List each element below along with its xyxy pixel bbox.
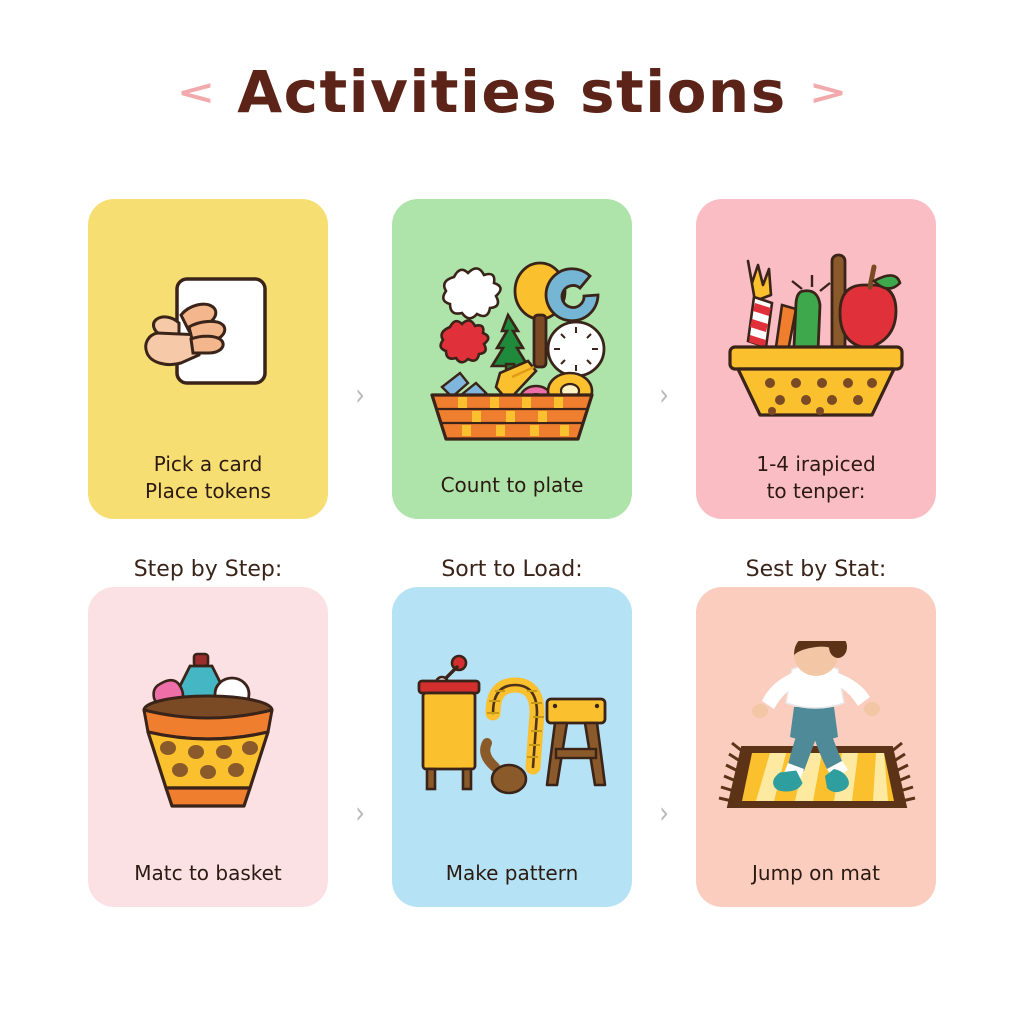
card-label-6: Jump on mat bbox=[696, 860, 936, 907]
activity-row-1: Pick a card Place tokens › bbox=[88, 165, 936, 495]
arrow-separator-1: › bbox=[334, 165, 386, 495]
arrow-separator-2: › bbox=[638, 165, 690, 495]
activity-column-4: Step by Step: bbox=[88, 553, 328, 907]
activity-card-make-pattern[interactable]: Make pattern bbox=[392, 587, 632, 907]
toy-basket-icon bbox=[88, 587, 328, 860]
card-label-3: 1-4 irapiced to tenper: bbox=[696, 451, 936, 519]
activity-column-3: 1-4 irapiced to tenper: bbox=[696, 165, 936, 519]
food-basket-icon bbox=[696, 199, 936, 451]
chevron-right-icon: › bbox=[355, 796, 365, 831]
child-jumping-mat-icon bbox=[696, 587, 936, 860]
chevron-right-icon: › bbox=[659, 378, 669, 413]
card-label-1: Pick a card Place tokens bbox=[88, 451, 328, 519]
column-header-4: Step by Step: bbox=[134, 553, 283, 587]
activity-card-match-to-basket[interactable]: Matc to basket bbox=[88, 587, 328, 907]
arrow-separator-4: › bbox=[638, 553, 690, 913]
activity-column-2: Count to plate bbox=[392, 165, 632, 519]
activity-column-5: Sort to Load: bbox=[392, 553, 632, 907]
arrow-separator-3: › bbox=[334, 553, 386, 913]
basket-of-shapes-icon bbox=[392, 199, 632, 472]
activity-column-6: Sest by Stat: bbox=[696, 553, 936, 907]
activity-card-jump-on-mat[interactable]: Jump on mat bbox=[696, 587, 936, 907]
activity-card-pick-a-card[interactable]: Pick a card Place tokens bbox=[88, 199, 328, 519]
chevron-right-icon: > bbox=[809, 74, 848, 109]
chevron-right-icon: › bbox=[659, 796, 669, 831]
furniture-shapes-icon bbox=[392, 587, 632, 860]
chevron-left-icon: < bbox=[177, 74, 216, 109]
activity-card-grid: Pick a card Place tokens › bbox=[0, 165, 1024, 913]
page-title: Activities stions bbox=[237, 58, 787, 126]
activity-card-food-basket[interactable]: 1-4 irapiced to tenper: bbox=[696, 199, 936, 519]
column-header-5: Sort to Load: bbox=[441, 553, 582, 587]
card-label-5: Make pattern bbox=[392, 860, 632, 907]
column-header-6: Sest by Stat: bbox=[746, 553, 887, 587]
page-title-bar: < Activities stions > bbox=[0, 0, 1024, 165]
chevron-right-icon: › bbox=[355, 378, 365, 413]
card-label-4: Matc to basket bbox=[88, 860, 328, 907]
activity-card-count-to-plate[interactable]: Count to plate bbox=[392, 199, 632, 519]
hand-on-card-icon bbox=[88, 199, 328, 451]
activity-row-2: Step by Step: bbox=[88, 553, 936, 913]
card-label-2: Count to plate bbox=[392, 472, 632, 519]
activity-column-1: Pick a card Place tokens bbox=[88, 165, 328, 519]
